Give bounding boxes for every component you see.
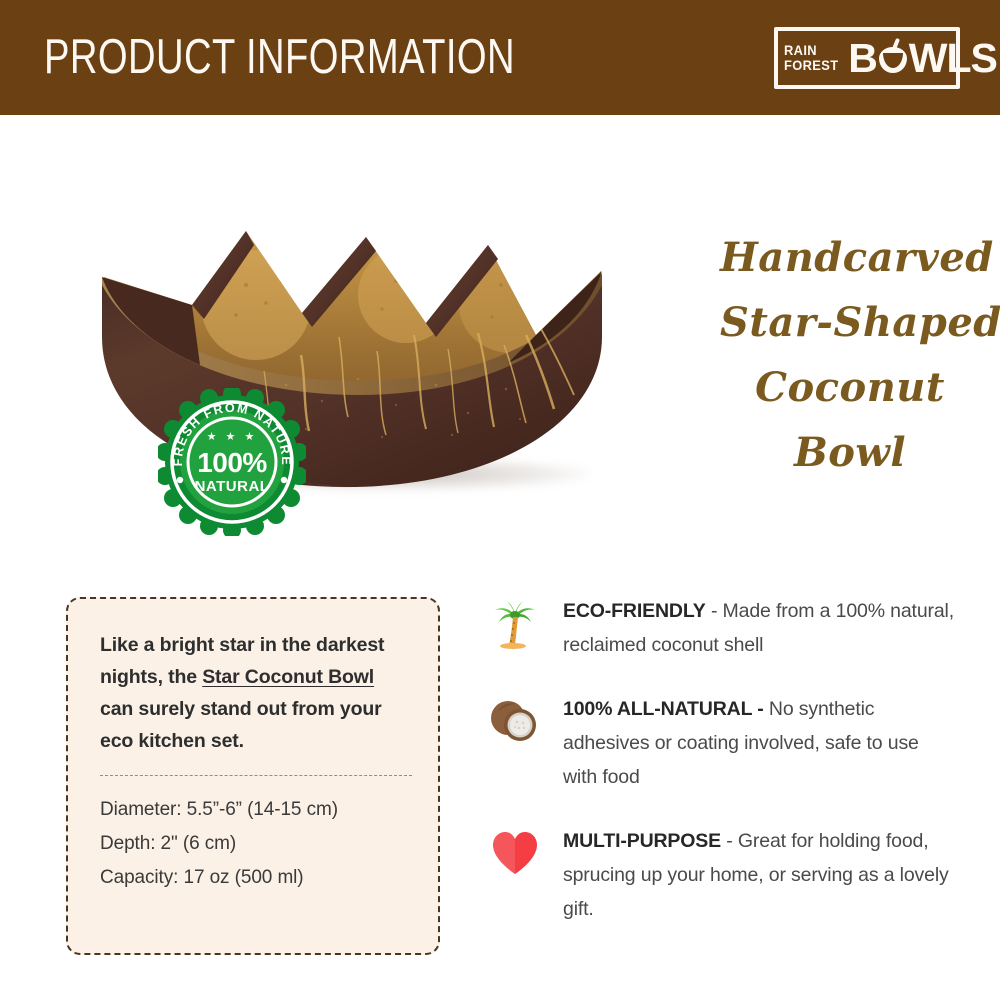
coconut-bowl-illustration (40, 185, 740, 525)
svg-text:★ ★ ★: ★ ★ ★ (207, 431, 258, 443)
description-suffix: can surely stand out from your eco kitch… (100, 698, 382, 752)
product-specs: Diameter: 5.5”-6” (14-15 cm) Depth: 2" (… (100, 793, 412, 895)
spec-depth: Depth: 2" (6 cm) (100, 827, 412, 861)
logo-line-rain: RAIN (784, 43, 817, 58)
product-information-page: PRODUCT INFORMATION RAIN FOREST B WLS (0, 0, 1000, 1000)
spec-diameter: Diameter: 5.5”-6” (14-15 cm) (100, 793, 412, 827)
svg-text:100%: 100% (197, 447, 267, 478)
fresh-from-nature-badge: FRESH FROM NATURE ★ ★ ★ 100% NATURAL (158, 388, 306, 536)
svg-text:NATURAL: NATURAL (195, 478, 270, 495)
feature-label-multi-purpose: MULTI-PURPOSE (563, 830, 721, 852)
logo-wordmark-b: B (848, 37, 877, 79)
coconut-icon (487, 694, 543, 750)
logo-wordmark-wls: WLS (909, 37, 997, 79)
logo-line-forest: FOREST (784, 58, 838, 73)
feature-label-eco-friendly: ECO-FRIENDLY (563, 600, 706, 622)
product-title-script: Handcarved Star-Shaped Coconut Bowl (720, 225, 980, 485)
feature-item-multi-purpose: MULTI-PURPOSE - Great for holding food, … (487, 824, 957, 926)
spec-capacity: Capacity: 17 oz (500 ml) (100, 861, 412, 895)
coconut-bowl-logo-icon (878, 43, 908, 73)
feature-label-all-natural: 100% ALL-NATURAL - (563, 698, 764, 720)
product-title-line-4: Bowl (720, 420, 980, 485)
palm-tree-icon (487, 596, 543, 652)
feature-item-all-natural: 100% ALL-NATURAL - No synthetic adhesive… (487, 692, 957, 794)
product-image: FRESH FROM NATURE ★ ★ ★ 100% NATURAL (40, 185, 740, 525)
logo-rainforest-text: RAIN FOREST (784, 43, 843, 72)
logo-wordmark: B WLS (848, 37, 997, 79)
coconut-bowl-photo (40, 185, 740, 525)
page-title: PRODUCT INFORMATION (44, 31, 515, 84)
card-divider (100, 775, 412, 776)
product-description: Like a bright star in the darkest nights… (100, 629, 412, 757)
feature-text-all-natural: 100% ALL-NATURAL - No synthetic adhesive… (563, 692, 957, 794)
description-product-link[interactable]: Star Coconut Bowl (202, 666, 374, 688)
heart-icon (487, 826, 543, 882)
feature-text-eco-friendly: ECO-FRIENDLY - Made from a 100% natural,… (563, 594, 957, 662)
brand-logo: RAIN FOREST B WLS (774, 27, 960, 89)
badge-graphic: FRESH FROM NATURE ★ ★ ★ 100% NATURAL (158, 388, 306, 536)
feature-item-eco-friendly: ECO-FRIENDLY - Made from a 100% natural,… (487, 594, 957, 662)
product-title-line-3: Coconut (720, 355, 980, 420)
feature-text-multi-purpose: MULTI-PURPOSE - Great for holding food, … (563, 824, 957, 926)
product-title-line-2: Star-Shaped (720, 290, 980, 355)
product-title-line-1: Handcarved (720, 225, 980, 290)
product-description-card: Like a bright star in the darkest nights… (66, 597, 440, 955)
page-header: PRODUCT INFORMATION RAIN FOREST B WLS (0, 0, 1000, 115)
feature-list: ECO-FRIENDLY - Made from a 100% natural,… (487, 594, 957, 956)
